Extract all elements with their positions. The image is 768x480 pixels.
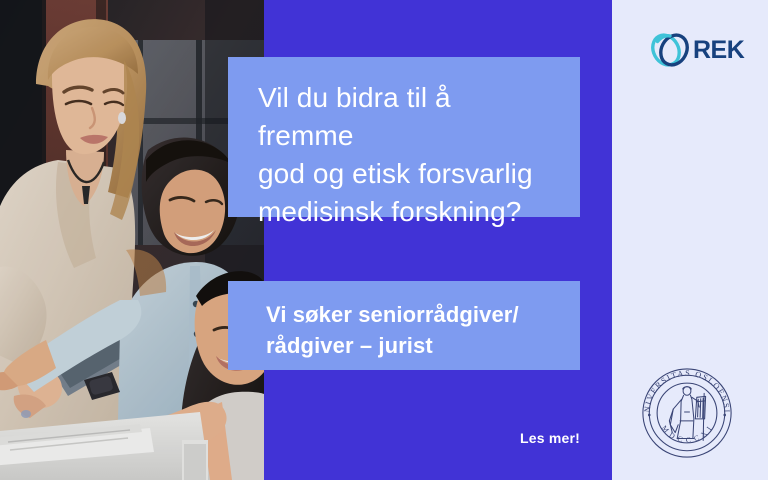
job-title-text: Vi søker seniorrådgiver/ rådgiver – juri…	[266, 299, 556, 361]
read-more-link[interactable]: Les mer!	[440, 430, 580, 446]
headline-box: Vil du bidra til å fremme god og etisk f…	[228, 57, 580, 217]
team-collaboration-photo	[0, 0, 264, 480]
rek-wordmark: REK	[693, 38, 744, 63]
svg-text:M D C C C X I: M D C C C X I	[660, 424, 714, 445]
svg-text:UNIVERSITAS OSLOENSIS: UNIVERSITAS OSLOENSIS	[638, 364, 731, 414]
rek-logo[interactable]: REK	[648, 25, 740, 75]
seal-top-text: UNIVERSITAS OSLOENSIS	[638, 364, 731, 414]
job-title-box: Vi søker seniorrådgiver/ rådgiver – juri…	[228, 281, 580, 370]
uio-university-seal: UNIVERSITAS OSLOENSIS M D C C C X I	[638, 364, 736, 462]
photo-illustration	[0, 0, 264, 480]
seal-bottom-text: M D C C C X I	[660, 424, 714, 445]
headline-text: Vil du bidra til å fremme god og etisk f…	[258, 79, 552, 231]
job-advert-banner: Vil du bidra til å fremme god og etisk f…	[0, 0, 768, 480]
rek-interlocking-rings-icon	[648, 28, 692, 72]
